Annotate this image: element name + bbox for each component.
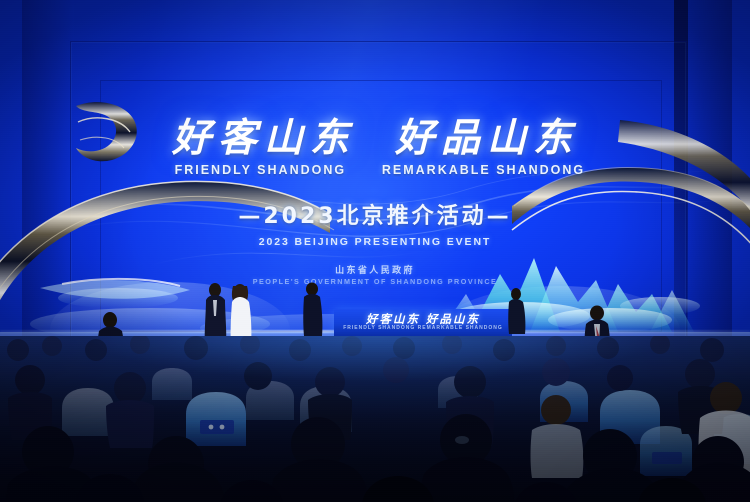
photo-vignette [0,0,750,502]
stage-event-photo: 好客山东 FRIENDLY SHANDONG 好品山东 REMARKABLE S… [0,0,750,502]
